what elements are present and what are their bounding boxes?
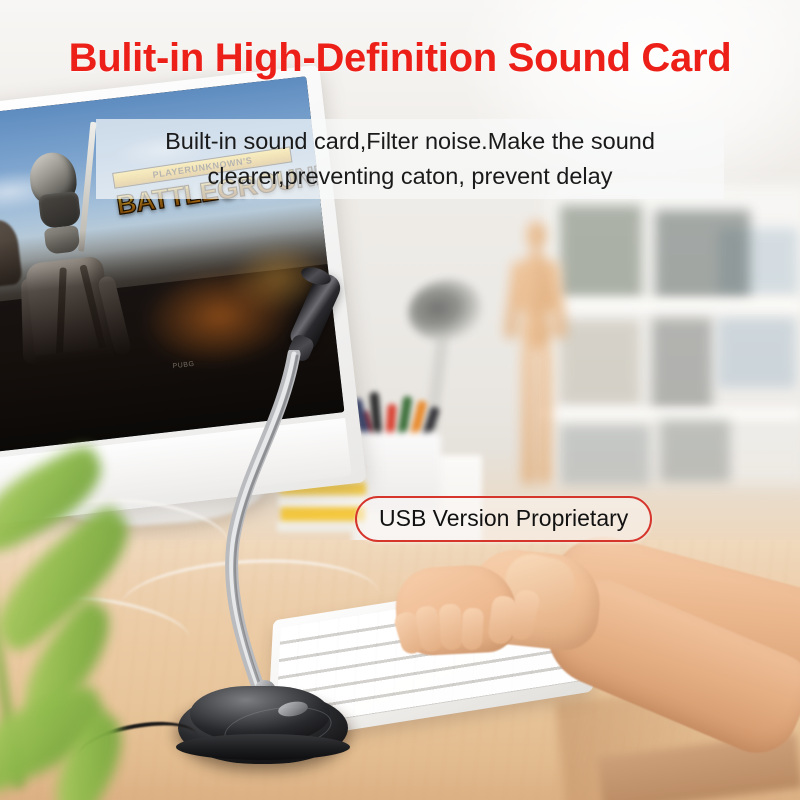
shelf-pane (652, 318, 712, 410)
finger (461, 607, 484, 650)
shelf-pane (655, 210, 750, 298)
shelf-pane (560, 320, 640, 405)
mannequin-leg-right (539, 345, 551, 485)
subtitle-line-1: Built-in sound card,Filter noise.Make th… (96, 124, 724, 159)
shelf-rail (540, 408, 800, 420)
mannequin-leg-left (522, 345, 534, 485)
shelf-pane (560, 425, 650, 485)
shelf-rail (540, 300, 800, 312)
shelf-pane (660, 420, 730, 482)
page-title: Bulit-in High-Definition Sound Card (0, 36, 800, 81)
shelf-pane (560, 205, 642, 297)
gooseneck-microphone (150, 262, 380, 782)
microphone-base-rim (176, 734, 350, 760)
finger (438, 603, 463, 650)
wooden-mannequin (500, 215, 570, 505)
subtitle-text: Built-in sound card,Filter noise.Make th… (96, 124, 724, 194)
shelf-pane (718, 318, 796, 388)
mannequin-hip (521, 315, 551, 349)
microphone-gooseneck (190, 350, 310, 710)
status-badge: USB Version Proprietary (355, 496, 652, 542)
product-marketing-image: PLAYERUNKNOWN'S BATTLEGROUNDS PUBG (0, 0, 800, 800)
gooseneck-path (190, 350, 310, 710)
subtitle-line-2: clearer,preventing caton, prevent delay (96, 159, 724, 194)
